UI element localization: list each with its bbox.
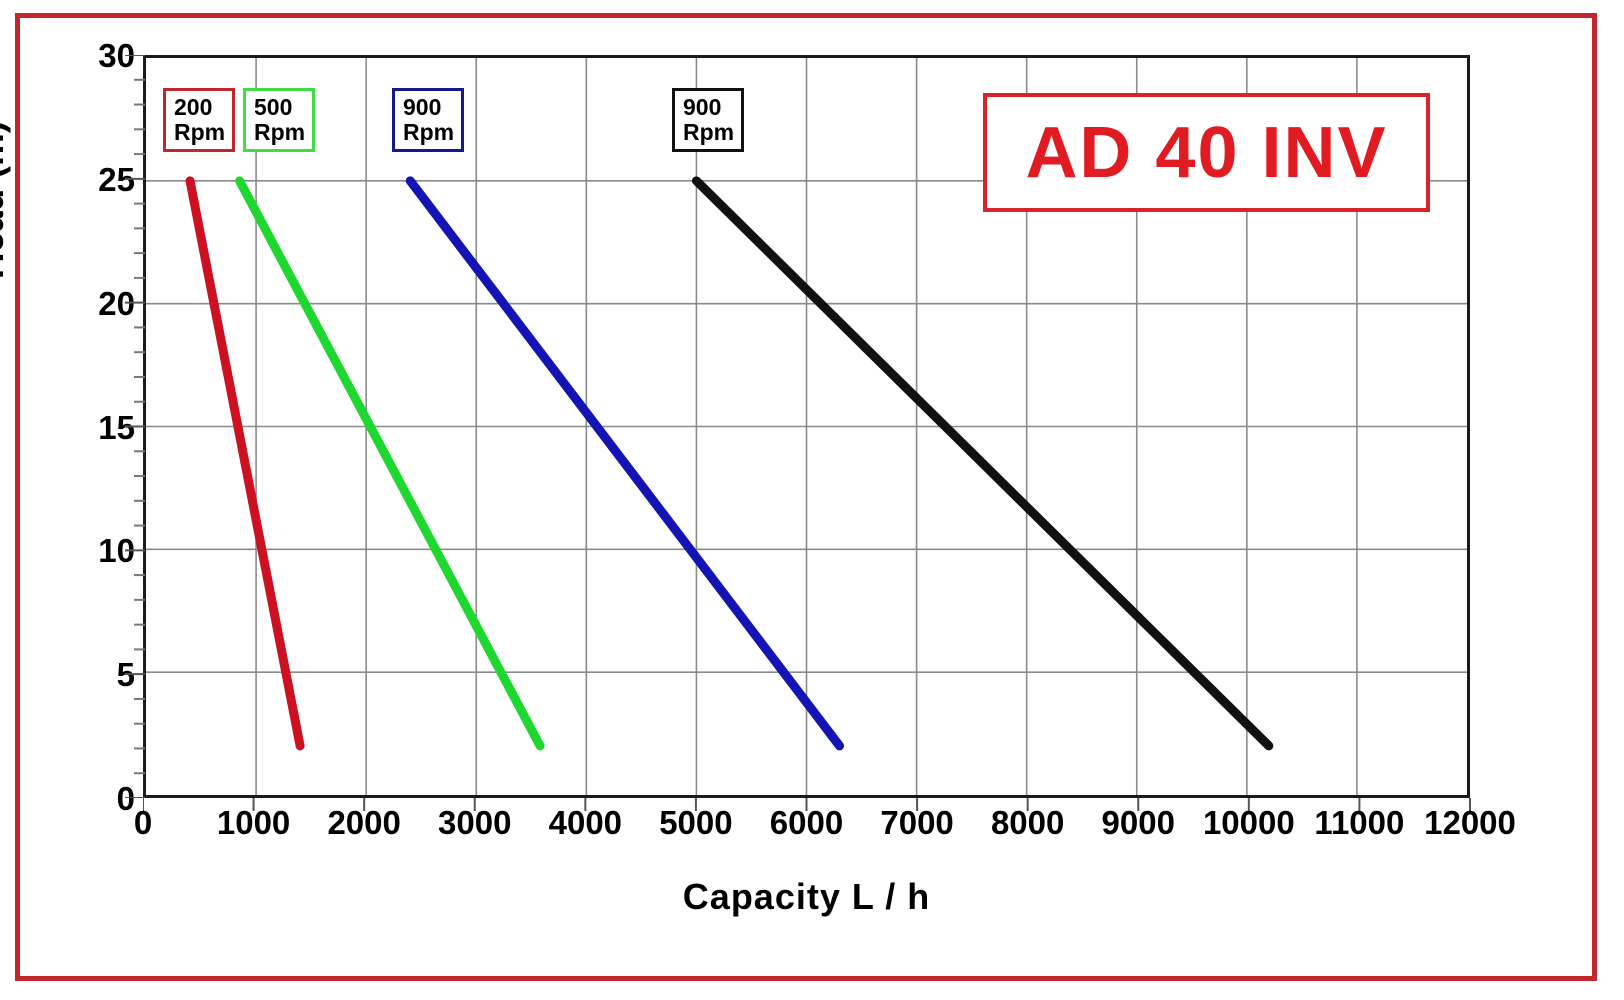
x-tick-label: 12000 (1390, 806, 1550, 839)
y-axis-title: Head (m) (0, 70, 12, 330)
curve-900-rpm (696, 181, 1268, 746)
series-callout-200-rpm: 200 Rpm (163, 88, 235, 152)
series-callout-500-rpm: 500 Rpm (243, 88, 315, 152)
title-text: AD 40 INV (1025, 117, 1387, 189)
chart-page: Head (m) 051015202530 010002000300040005… (0, 0, 1624, 1000)
title-plate: AD 40 INV (983, 93, 1430, 212)
x-axis-title: Capacity L / h (143, 876, 1470, 918)
x-axis-tick-labels: 0100020003000400050006000700080009000100… (143, 806, 1470, 856)
series-callout-900-rpm: 900 Rpm (672, 88, 744, 152)
curve-900-rpm (410, 181, 839, 746)
y-axis-ticks (123, 55, 145, 798)
series-callout-900-rpm: 900 Rpm (392, 88, 464, 152)
